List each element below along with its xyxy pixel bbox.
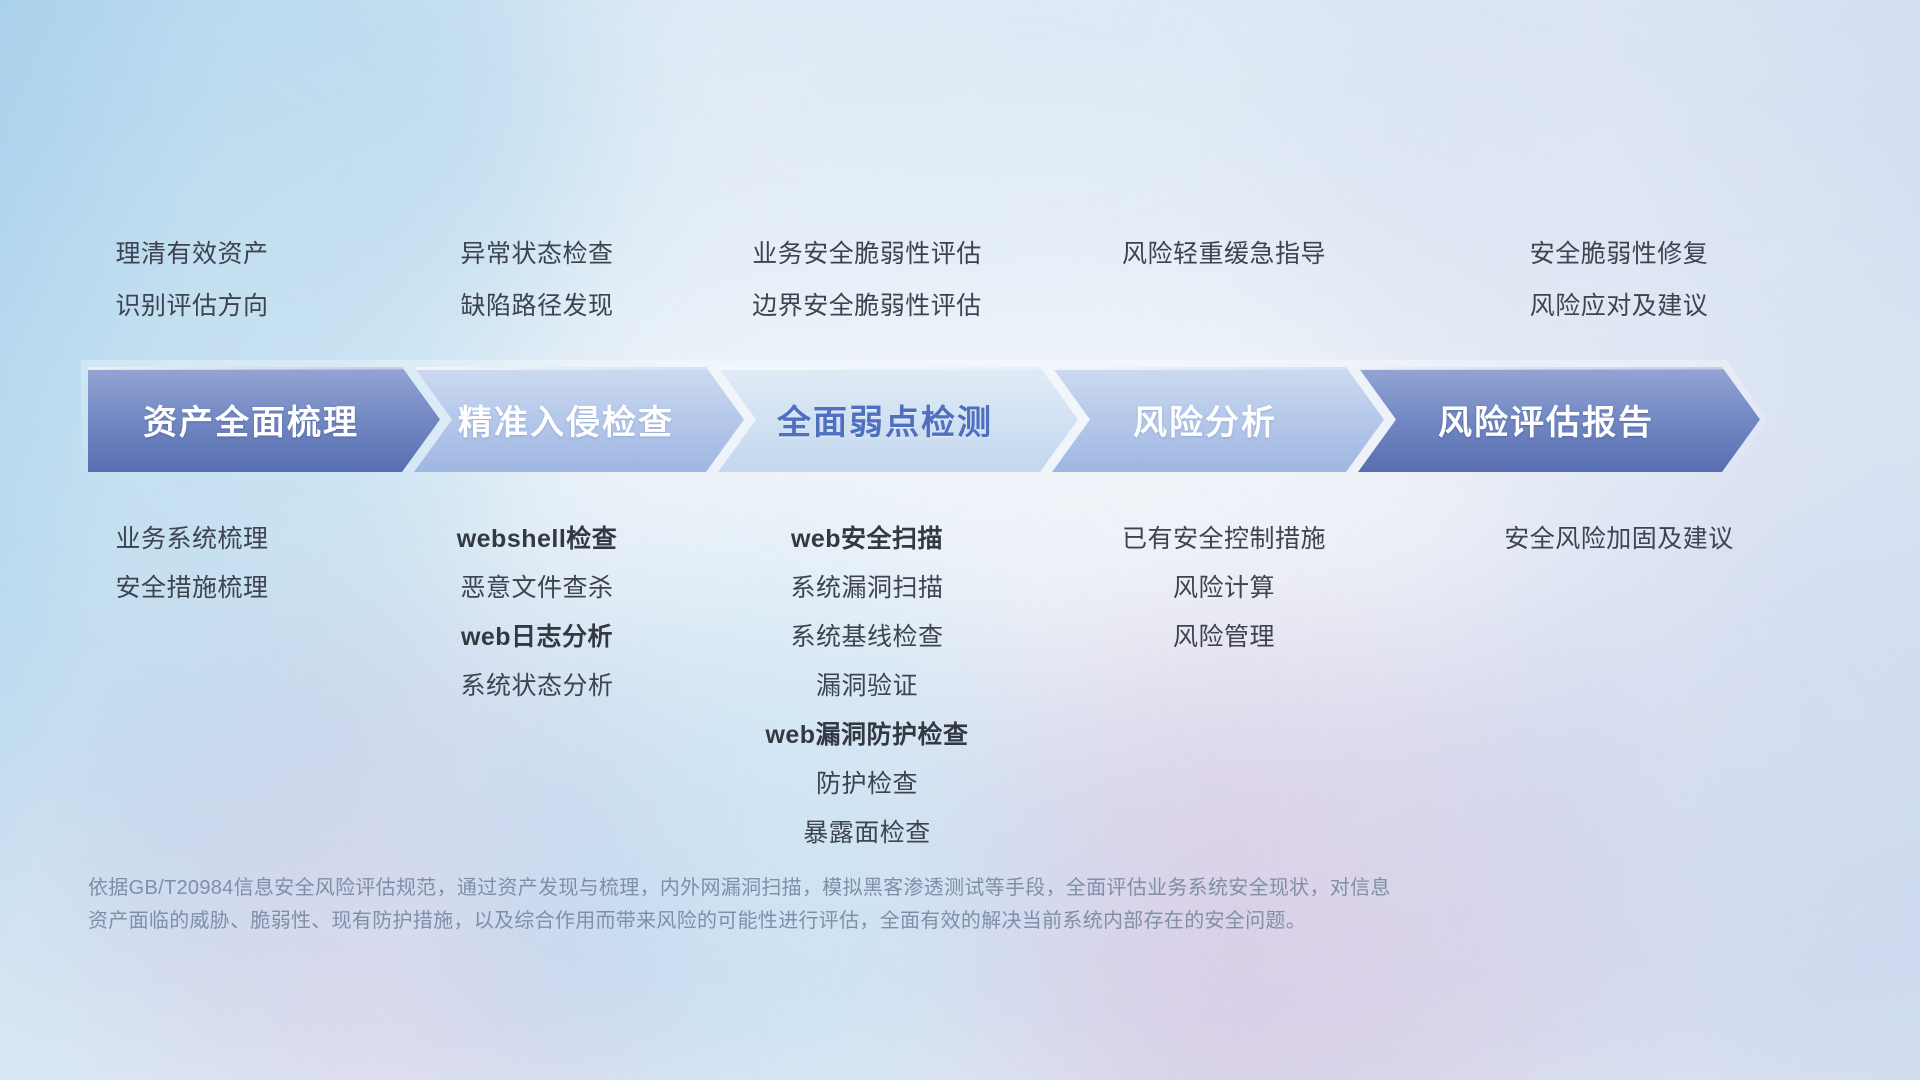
chevron-stage-4[interactable]: 风险分析: [1052, 367, 1384, 472]
bottom-item: 安全风险加固及建议: [1404, 515, 1834, 564]
chevron-label: 风险分析: [1133, 395, 1303, 444]
footer-line-2: 资产面临的威胁、脆弱性、现有防护措施，以及综合作用而带来风险的可能性进行评估，全…: [88, 905, 1518, 938]
top-item: 风险应对及建议: [1404, 280, 1834, 332]
bottom-item: web安全扫描: [690, 515, 1044, 564]
top-item: 理清有效资产: [0, 228, 384, 280]
stage-bottom-labels-4: 已有安全控制措施 风险计算 风险管理: [1044, 515, 1404, 662]
chevron-label: 精准入侵检查: [458, 395, 700, 444]
stage-top-labels-4: 风险轻重缓急指导: [1044, 228, 1404, 332]
bottom-item: 漏洞验证: [690, 662, 1044, 711]
top-item: 风险轻重缓急指导: [1044, 228, 1404, 280]
chevron-stage-1[interactable]: 资产全面梳理: [88, 367, 440, 472]
bottom-item: 已有安全控制措施: [1044, 515, 1404, 564]
chevron-label: 风险评估报告: [1438, 395, 1680, 444]
footer-description: 依据GB/T20984信息安全风险评估规范，通过资产发现与梳理，内外网漏洞扫描，…: [88, 872, 1518, 938]
top-item: 业务安全脆弱性评估: [690, 228, 1044, 280]
bottom-item: 风险计算: [1044, 564, 1404, 613]
stage-top-labels-5: 安全脆弱性修复 风险应对及建议: [1404, 228, 1834, 332]
bottom-item: 系统状态分析: [384, 662, 690, 711]
bottom-item: 暴露面检查: [690, 809, 1044, 858]
bottom-item: 风险管理: [1044, 613, 1404, 662]
footer-line-1: 依据GB/T20984信息安全风险评估规范，通过资产发现与梳理，内外网漏洞扫描，…: [88, 872, 1518, 905]
top-item: 缺陷路径发现: [384, 280, 690, 332]
bottom-item: webshell检查: [384, 515, 690, 564]
bottom-item: 系统基线检查: [690, 613, 1044, 662]
bottom-item: 系统漏洞扫描: [690, 564, 1044, 613]
bottom-item: 安全措施梳理: [0, 564, 384, 613]
stage-top-labels-3: 业务安全脆弱性评估 边界安全脆弱性评估: [690, 228, 1044, 332]
stage-bottom-labels-5: 安全风险加固及建议: [1404, 515, 1834, 564]
top-item: 边界安全脆弱性评估: [690, 280, 1044, 332]
chevron-label: 全面弱点检测: [777, 395, 1019, 444]
bottom-item: 业务系统梳理: [0, 515, 384, 564]
chevron-stage-3[interactable]: 全面弱点检测: [718, 367, 1078, 472]
top-item: 异常状态检查: [384, 228, 690, 280]
stage-bottom-labels-1: 业务系统梳理 安全措施梳理: [0, 515, 384, 613]
top-item: 识别评估方向: [0, 280, 384, 332]
stage-top-labels-1: 理清有效资产 识别评估方向: [0, 228, 384, 332]
chevron-stage-2[interactable]: 精准入侵检查: [414, 367, 744, 472]
stage-top-labels-2: 异常状态检查 缺陷路径发现: [384, 228, 690, 332]
stage-bottom-labels-row: 业务系统梳理 安全措施梳理 webshell检查 恶意文件查杀 web日志分析 …: [0, 515, 1920, 858]
bottom-item: 恶意文件查杀: [384, 564, 690, 613]
stage-bottom-labels-3: web安全扫描 系统漏洞扫描 系统基线检查 漏洞验证 web漏洞防护检查 防护检…: [690, 515, 1044, 858]
bottom-item: web日志分析: [384, 613, 690, 662]
bottom-item: 防护检查: [690, 760, 1044, 809]
chevron-label: 资产全面梳理: [143, 395, 385, 444]
stage-bottom-labels-2: webshell检查 恶意文件查杀 web日志分析 系统状态分析: [384, 515, 690, 711]
top-item: 安全脆弱性修复: [1404, 228, 1834, 280]
chevron-stage-5[interactable]: 风险评估报告: [1358, 367, 1760, 472]
bottom-item: web漏洞防护检查: [690, 711, 1044, 760]
chevron-band: 资产全面梳理 精准入侵检查 全面弱点检测 风险分析 风险评估报告: [88, 367, 1838, 472]
process-diagram: 理清有效资产 识别评估方向 异常状态检查 缺陷路径发现 业务安全脆弱性评估 边界…: [0, 0, 1920, 1080]
stage-top-labels-row: 理清有效资产 识别评估方向 异常状态检查 缺陷路径发现 业务安全脆弱性评估 边界…: [0, 228, 1920, 332]
